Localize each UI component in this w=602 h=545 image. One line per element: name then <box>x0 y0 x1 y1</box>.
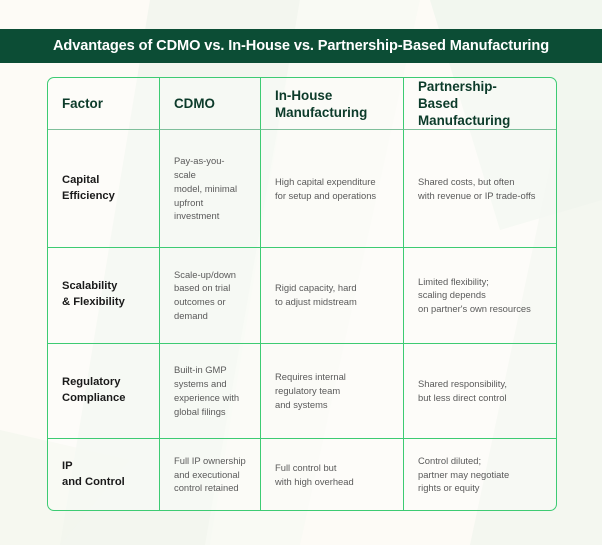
row-factor-label: Capital Efficiency <box>48 130 159 247</box>
page-title: Advantages of CDMO vs. In-House vs. Part… <box>53 38 549 54</box>
table-header: Factor CDMO In-House Manufacturing Partn… <box>48 78 556 130</box>
comparison-table: Factor CDMO In-House Manufacturing Partn… <box>47 77 557 511</box>
cell-partnership: Limited flexibility; scaling depends on … <box>403 247 556 342</box>
row-factor-label: Regulatory Compliance <box>48 343 159 438</box>
table-row: Regulatory Compliance Built-in GMP syste… <box>48 343 556 438</box>
cell-cdmo: Built-in GMP systems and experience with… <box>159 343 260 438</box>
column-header-factor: Factor <box>48 78 159 130</box>
row-factor-label: Scalability & Flexibility <box>48 247 159 342</box>
table-header-row: Factor CDMO In-House Manufacturing Partn… <box>48 78 556 130</box>
cell-partnership: Control diluted; partner may negotiate r… <box>403 438 556 510</box>
comparison-table-container: Factor CDMO In-House Manufacturing Partn… <box>47 77 555 511</box>
table-row: Capital Efficiency Pay-as-you-scale mode… <box>48 130 556 247</box>
row-factor-label: IP and Control <box>48 438 159 510</box>
table-row: IP and Control Full IP ownership and exe… <box>48 438 556 510</box>
cell-cdmo: Pay-as-you-scale model, minimal upfront … <box>159 130 260 247</box>
cell-cdmo: Scale-up/down based on trial outcomes or… <box>159 247 260 342</box>
cell-in-house: Requires internal regulatory team and sy… <box>260 343 403 438</box>
title-banner: Advantages of CDMO vs. In-House vs. Part… <box>0 29 602 63</box>
cell-in-house: Full control but with high overhead <box>260 438 403 510</box>
cell-in-house: High capital expenditure for setup and o… <box>260 130 403 247</box>
table-body: Capital Efficiency Pay-as-you-scale mode… <box>48 130 556 510</box>
table-row: Scalability & Flexibility Scale-up/down … <box>48 247 556 342</box>
column-header-in-house: In-House Manufacturing <box>260 78 403 130</box>
column-header-cdmo: CDMO <box>159 78 260 130</box>
cell-in-house: Rigid capacity, hard to adjust midstream <box>260 247 403 342</box>
cell-cdmo: Full IP ownership and executional contro… <box>159 438 260 510</box>
column-header-partnership: Partnership- Based Manufacturing <box>403 78 556 130</box>
cell-partnership: Shared responsibility, but less direct c… <box>403 343 556 438</box>
cell-partnership: Shared costs, but often with revenue or … <box>403 130 556 247</box>
